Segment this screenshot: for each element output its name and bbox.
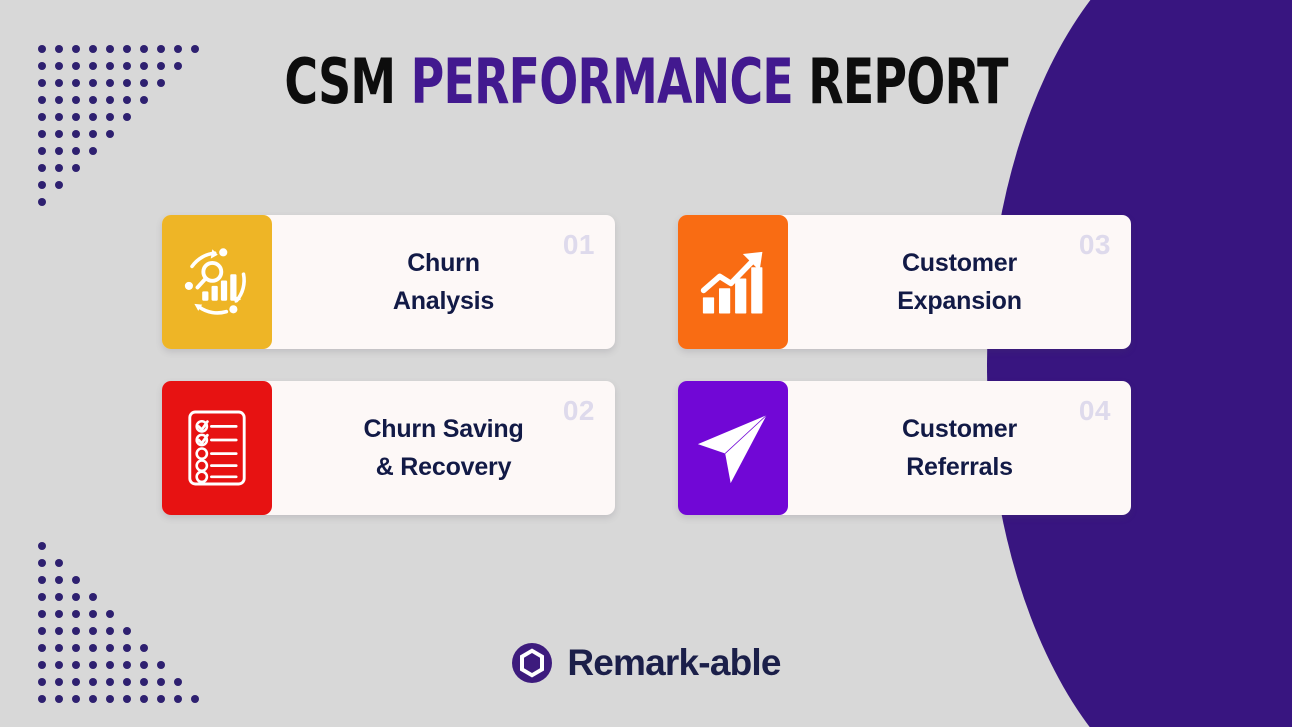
decorative-dot bbox=[191, 695, 199, 703]
decorative-dot bbox=[55, 593, 63, 601]
decorative-dot bbox=[55, 181, 63, 189]
decorative-dot bbox=[38, 113, 46, 121]
decorative-dot bbox=[140, 96, 148, 104]
decorative-dot bbox=[106, 45, 114, 53]
dot-row bbox=[38, 176, 208, 193]
decorative-dot bbox=[38, 45, 46, 53]
card-title-line-1: Customer bbox=[902, 249, 1017, 277]
card-body: 03 Customer Expansion bbox=[788, 215, 1131, 349]
decorative-dot bbox=[72, 627, 80, 635]
decorative-dot bbox=[72, 79, 80, 87]
dot-row bbox=[38, 588, 208, 605]
dot-row bbox=[38, 554, 208, 571]
card-icon-tile bbox=[162, 381, 272, 515]
title-highlight: PERFORMANCE bbox=[411, 45, 793, 118]
growth-bar-chart-arrow-icon bbox=[698, 247, 768, 317]
decorative-dot bbox=[38, 164, 46, 172]
decorative-dot bbox=[89, 96, 97, 104]
decorative-dot bbox=[157, 695, 165, 703]
chart-magnifier-refresh-icon bbox=[178, 243, 256, 321]
decorative-dot bbox=[123, 62, 131, 70]
decorative-dot bbox=[55, 576, 63, 584]
decorative-dot bbox=[123, 79, 131, 87]
dot-row bbox=[38, 571, 208, 588]
card-number: 03 bbox=[1079, 231, 1111, 259]
decorative-dot bbox=[89, 62, 97, 70]
decorative-dot bbox=[55, 113, 63, 121]
dot-row bbox=[38, 193, 208, 210]
decorative-dot bbox=[72, 130, 80, 138]
decorative-dot bbox=[55, 79, 63, 87]
decorative-dot bbox=[55, 147, 63, 155]
dot-row bbox=[38, 537, 208, 554]
card-body: 04 Customer Referrals bbox=[788, 381, 1131, 515]
decorative-dot bbox=[89, 130, 97, 138]
decorative-dot bbox=[89, 147, 97, 155]
decorative-dot bbox=[55, 45, 63, 53]
decorative-dot bbox=[140, 62, 148, 70]
decorative-dot bbox=[157, 62, 165, 70]
card-title: Customer Referrals bbox=[902, 410, 1017, 486]
decorative-dot bbox=[38, 198, 46, 206]
card-body: 01 Churn Analysis bbox=[272, 215, 615, 349]
dot-row bbox=[38, 159, 208, 176]
decorative-dot bbox=[89, 610, 97, 618]
decorative-dot bbox=[38, 593, 46, 601]
decorative-dot bbox=[55, 559, 63, 567]
decorative-dot bbox=[140, 79, 148, 87]
decorative-dot bbox=[72, 593, 80, 601]
decorative-dot bbox=[72, 96, 80, 104]
decorative-dot bbox=[72, 576, 80, 584]
decorative-dot bbox=[123, 695, 131, 703]
card-icon-tile bbox=[162, 215, 272, 349]
decorative-dot bbox=[106, 610, 114, 618]
decorative-dot bbox=[38, 610, 46, 618]
card-title: Churn Analysis bbox=[393, 244, 494, 320]
card-title-line-2: Analysis bbox=[393, 287, 494, 315]
card-number: 04 bbox=[1079, 397, 1111, 425]
slide-canvas: CSM PERFORMANCE REPORT bbox=[0, 0, 1292, 727]
decorative-dot bbox=[123, 113, 131, 121]
paper-plane-send-icon bbox=[694, 409, 772, 487]
card-number: 02 bbox=[563, 397, 595, 425]
checklist-clipboard-icon bbox=[185, 408, 249, 488]
decorative-dot bbox=[89, 695, 97, 703]
decorative-dot bbox=[72, 164, 80, 172]
card-title-line-1: Churn Saving bbox=[363, 415, 523, 443]
decorative-dot bbox=[38, 79, 46, 87]
decorative-dot bbox=[72, 113, 80, 121]
card-title-line-1: Churn bbox=[407, 249, 480, 277]
decorative-dot bbox=[89, 79, 97, 87]
decorative-dot bbox=[38, 542, 46, 550]
decorative-dot bbox=[72, 45, 80, 53]
dot-row bbox=[38, 690, 208, 707]
dot-row bbox=[38, 125, 208, 142]
card-title-line-2: Expansion bbox=[897, 287, 1022, 315]
card-title-line-2: Referrals bbox=[906, 453, 1013, 481]
decorative-dot bbox=[140, 695, 148, 703]
decorative-dot bbox=[38, 181, 46, 189]
decorative-dot bbox=[55, 627, 63, 635]
decorative-dot bbox=[72, 610, 80, 618]
decorative-dot bbox=[38, 96, 46, 104]
hexagon-badge-logo-icon bbox=[511, 642, 553, 684]
card-icon-tile bbox=[678, 215, 788, 349]
decorative-dot bbox=[38, 576, 46, 584]
card-title: Churn Saving & Recovery bbox=[363, 410, 523, 486]
decorative-dot bbox=[140, 45, 148, 53]
page-title: CSM PERFORMANCE REPORT bbox=[168, 46, 1124, 118]
cards-grid: 01 Churn Analysis bbox=[162, 215, 1134, 515]
title-part-1: CSM bbox=[284, 45, 410, 118]
decorative-dot bbox=[89, 113, 97, 121]
decorative-dot bbox=[174, 695, 182, 703]
decorative-dot bbox=[38, 559, 46, 567]
card-title-line-2: & Recovery bbox=[376, 453, 512, 481]
decorative-dot bbox=[106, 96, 114, 104]
decorative-dot bbox=[106, 130, 114, 138]
dot-row bbox=[38, 605, 208, 622]
decorative-dot bbox=[38, 627, 46, 635]
decorative-dot bbox=[72, 695, 80, 703]
brand-name: Remark-able bbox=[567, 642, 780, 684]
card-customer-referrals[interactable]: 04 Customer Referrals bbox=[678, 381, 1131, 515]
decorative-dot bbox=[72, 62, 80, 70]
decorative-dot bbox=[38, 695, 46, 703]
title-part-2: REPORT bbox=[793, 45, 1008, 118]
decorative-dot bbox=[55, 96, 63, 104]
decorative-dot bbox=[157, 45, 165, 53]
decorative-dot bbox=[157, 79, 165, 87]
decorative-dot bbox=[106, 627, 114, 635]
card-number: 01 bbox=[563, 231, 595, 259]
decorative-dot bbox=[38, 130, 46, 138]
decorative-dot bbox=[106, 62, 114, 70]
decorative-dot bbox=[106, 113, 114, 121]
decorative-dot bbox=[123, 45, 131, 53]
decorative-dot bbox=[123, 627, 131, 635]
decorative-dot bbox=[106, 695, 114, 703]
footer-brand: Remark-able bbox=[0, 642, 1292, 684]
decorative-dot bbox=[89, 45, 97, 53]
decorative-dot bbox=[55, 164, 63, 172]
card-churn-analysis[interactable]: 01 Churn Analysis bbox=[162, 215, 615, 349]
card-icon-tile bbox=[678, 381, 788, 515]
card-title: Customer Expansion bbox=[897, 244, 1022, 320]
card-churn-saving-recovery[interactable]: 02 Churn Saving & Recovery bbox=[162, 381, 615, 515]
decorative-dot bbox=[38, 62, 46, 70]
card-body: 02 Churn Saving & Recovery bbox=[272, 381, 615, 515]
decorative-dot bbox=[55, 62, 63, 70]
decorative-dot bbox=[89, 627, 97, 635]
decorative-dot bbox=[55, 130, 63, 138]
dot-row bbox=[38, 622, 208, 639]
decorative-dot bbox=[89, 593, 97, 601]
decorative-dot bbox=[106, 79, 114, 87]
card-title-line-1: Customer bbox=[902, 415, 1017, 443]
decorative-dot bbox=[55, 610, 63, 618]
dot-row bbox=[38, 142, 208, 159]
card-customer-expansion[interactable]: 03 Customer Expansion bbox=[678, 215, 1131, 349]
decorative-dot bbox=[55, 695, 63, 703]
decorative-dot bbox=[72, 147, 80, 155]
decorative-dot bbox=[123, 96, 131, 104]
decorative-dot bbox=[38, 147, 46, 155]
